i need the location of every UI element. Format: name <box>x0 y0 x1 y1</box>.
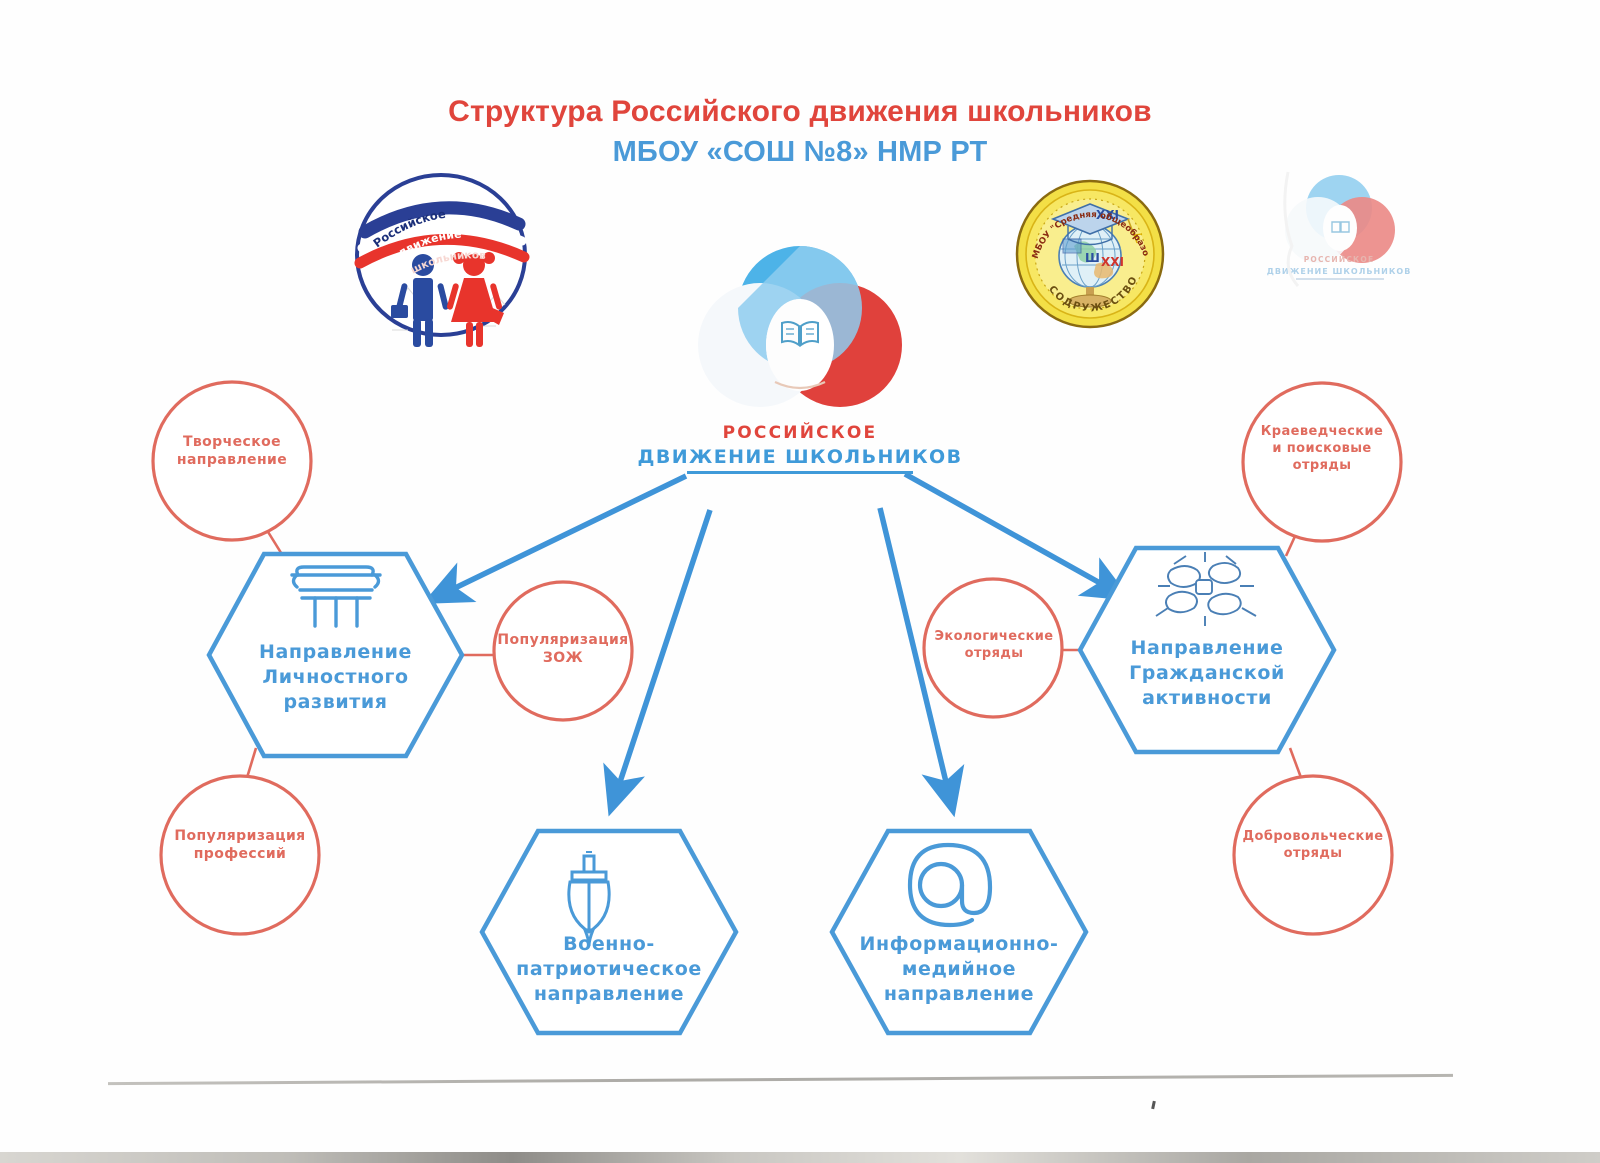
circle-volunteers-label: Добровольческие отряды <box>1233 829 1393 863</box>
logo-school-badge-icon: Ш XXI XXI МБОУ "Средняя общеобразователь… <box>0 0 1163 327</box>
center-rdsh-emblem-icon <box>698 246 902 407</box>
center-caption-top: РОССИЙСКОЕ <box>620 424 980 444</box>
center-caption-bottom: ДВИЖЕНИЕ ШКОЛЬНИКОВ <box>620 447 980 469</box>
circle-creative-direction-label: Творческое направление <box>153 433 311 469</box>
center-caption-rule <box>687 471 913 474</box>
hexagon-civic-activity-label: Направление Гражданской активности <box>1080 636 1334 711</box>
hexagon-information-media-label: Информационно- медийное направление <box>828 932 1090 1007</box>
svg-text:XXI: XXI <box>1101 255 1124 269</box>
logo-rdsh-faded-icon: РОССИЙСКОЕ ДВИЖЕНИЕ ШКОЛЬНИКОВ <box>1267 172 1412 286</box>
logo-rdsh-oval-icon: Российское движение школьников <box>357 175 536 347</box>
circle-professions-label: Популяризация профессий <box>161 827 319 863</box>
scanned-page: Структура Российского движения школьнико… <box>0 0 1600 1163</box>
diagram-canvas: Российское движение школьников Ш <box>0 0 1600 1163</box>
arrow-center-to-personal <box>455 476 686 588</box>
center-emblem-caption: РОССИЙСКОЕ ДВИЖЕНИЕ ШКОЛЬНИКОВ <box>620 424 980 474</box>
hexagon-military-patriotic-label: Военно- патриотическое направление <box>482 932 736 1007</box>
circle-local-lore-label: Краеведческие и поисковые отряды <box>1243 424 1401 475</box>
hexagon-personal-development-label: Направление Личностного развития <box>209 640 462 715</box>
scan-bottom-strip <box>0 1152 1600 1163</box>
svg-text:МБОУ "Средняя общеобразователь: МБОУ "Средняя общеобразовательная школа"… <box>0 0 1151 260</box>
svg-text:РОССИЙСКОЕ: РОССИЙСКОЕ <box>1304 255 1375 264</box>
svg-text:Ш: Ш <box>1085 251 1100 265</box>
circle-healthy-lifestyle-label: Популяризация ЗОЖ <box>486 631 640 667</box>
circle-ecology-label: Экологические отряды <box>918 629 1070 663</box>
arrow-center-to-civic <box>905 474 1100 583</box>
